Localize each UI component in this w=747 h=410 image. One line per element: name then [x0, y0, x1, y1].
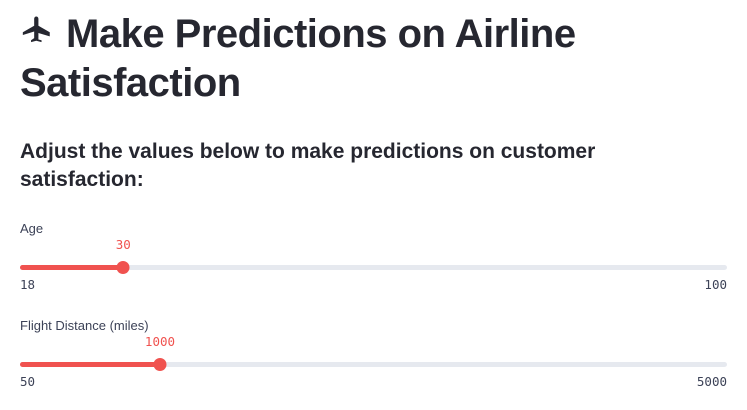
slider-thumb-age[interactable]	[117, 261, 130, 274]
slider-max-flight-distance: 5000	[697, 376, 727, 389]
slider-range-age: 18 100	[20, 279, 727, 292]
slider-min-flight-distance: 50	[20, 376, 35, 389]
slider-track-fill-flight-distance	[20, 362, 160, 367]
slider-track-flight-distance[interactable]	[20, 358, 727, 370]
slider-label-age: Age	[20, 219, 727, 237]
airplane-icon	[20, 13, 54, 47]
app-page: Make Predictions on Airline Satisfaction…	[0, 0, 747, 410]
page-title: Make Predictions on Airline Satisfaction	[20, 10, 720, 108]
slider-range-flight-distance: 50 5000	[20, 376, 727, 389]
page-subtitle: Adjust the values below to make predicti…	[20, 138, 720, 193]
slider-widget-flight-distance: Flight Distance (miles) 1000 50 5000	[20, 316, 727, 382]
slider-body-flight-distance[interactable]: 1000 50 5000	[20, 336, 727, 382]
slider-widget-age: Age 30 18 100	[20, 219, 727, 285]
slider-track-fill-age	[20, 265, 123, 270]
slider-value-age: 30	[116, 239, 131, 252]
slider-max-age: 100	[704, 279, 727, 292]
slider-thumb-flight-distance[interactable]	[153, 358, 166, 371]
slider-value-flight-distance: 1000	[145, 336, 175, 349]
page-title-text: Make Predictions on Airline Satisfaction	[20, 12, 576, 105]
slider-body-age[interactable]: 30 18 100	[20, 239, 727, 285]
slider-min-age: 18	[20, 279, 35, 292]
slider-label-flight-distance: Flight Distance (miles)	[20, 316, 727, 334]
slider-track-age[interactable]	[20, 261, 727, 273]
